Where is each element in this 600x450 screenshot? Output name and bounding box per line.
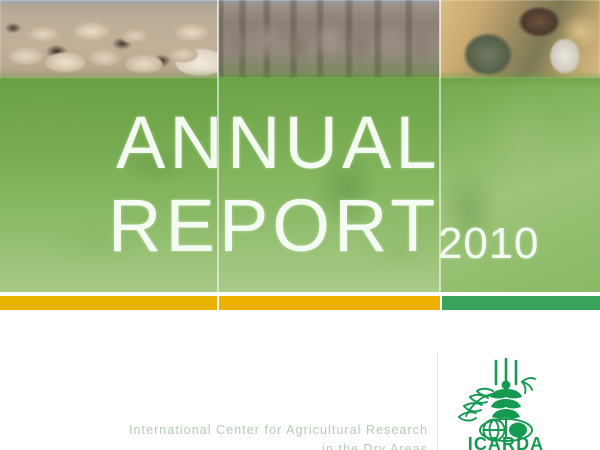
icarda-wordmark: ICARDA (452, 434, 560, 450)
organization-name-line-2: in the Dry Areas (88, 440, 428, 450)
title-year: 2010 (438, 222, 539, 266)
annual-report-cover: ANNUAL REPORT 2010 International Center … (0, 0, 600, 450)
color-bar-segment-gold-right (219, 296, 440, 310)
cover-hero: ANNUAL REPORT 2010 (0, 0, 600, 292)
footer-vertical-divider (437, 352, 438, 450)
color-bar-segment-green (442, 296, 600, 310)
accent-color-bar (0, 296, 600, 310)
organization-name: International Center for Agricultural Re… (88, 421, 428, 450)
cover-title-block: ANNUAL REPORT 2010 (0, 0, 600, 292)
organization-name-line-1: International Center for Agricultural Re… (88, 421, 428, 440)
title-word-annual: ANNUAL (116, 106, 441, 180)
color-bar-segment-gold-left (0, 296, 217, 310)
title-word-report: REPORT (108, 189, 439, 263)
